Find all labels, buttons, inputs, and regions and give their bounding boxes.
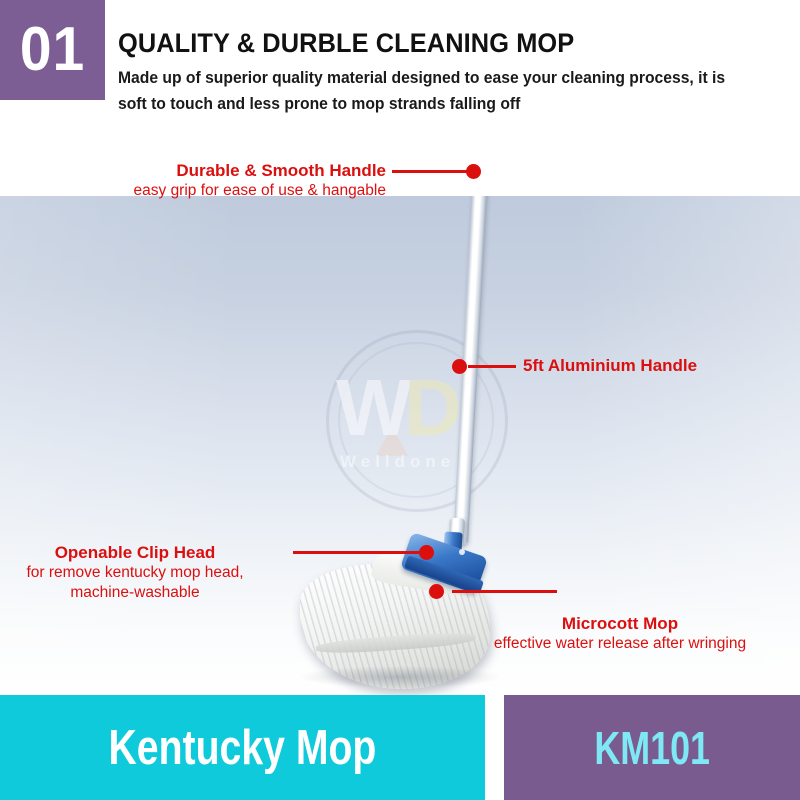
page-title: QUALITY & DURBLE CLEANING MOP [118,28,738,59]
product-code-panel: KM101 [504,695,800,800]
callout-openable-clip-head: Openable Clip Head for remove kentucky m… [10,542,260,603]
callout-3-title: Openable Clip Head [10,542,260,563]
callout-durable-smooth-handle: Durable & Smooth Handle easy grip for ea… [66,160,386,201]
mop-drop-shadow [300,666,500,688]
step-number-text: 01 [20,19,85,81]
callout-4-subtitle: effective water release after wringing [455,634,785,654]
callout-3-leader-line [293,551,425,554]
product-infographic: 01 QUALITY & DURBLE CLEANING MOP Made up… [0,0,800,800]
callout-1-leader-line [392,170,468,173]
callout-4-anchor-dot [429,584,444,599]
callout-2-leader-line [468,365,516,368]
callout-4-leader-line [452,590,557,593]
callout-2-anchor-dot [452,359,467,374]
header-description: Made up of superior quality material des… [118,66,755,117]
product-code-text: KM101 [594,721,710,775]
callout-2-title: 5ft Aluminium Handle [523,355,697,376]
callout-3-anchor-dot [419,545,434,560]
product-name-text: Kentucky Mop [109,720,377,776]
callout-3-subtitle: for remove kentucky mop head, [10,563,260,583]
callout-4-title: Microcott Mop [455,613,785,634]
callout-1-anchor-dot [466,164,481,179]
step-number-badge: 01 [0,0,105,100]
callout-microcott-mop: Microcott Mop effective water release af… [455,613,785,654]
header-section: 01 QUALITY & DURBLE CLEANING MOP Made up… [0,0,800,140]
callout-3-subtitle-2: machine-washable [10,583,260,603]
callout-aluminium-handle: 5ft Aluminium Handle [523,355,697,376]
product-name-panel: Kentucky Mop [0,695,485,800]
callout-1-title: Durable & Smooth Handle [66,160,386,181]
clip-head-screw [459,549,465,555]
footer-section: Kentucky Mop KM101 [0,695,800,800]
callout-1-subtitle: easy grip for ease of use & hangable [66,181,386,201]
